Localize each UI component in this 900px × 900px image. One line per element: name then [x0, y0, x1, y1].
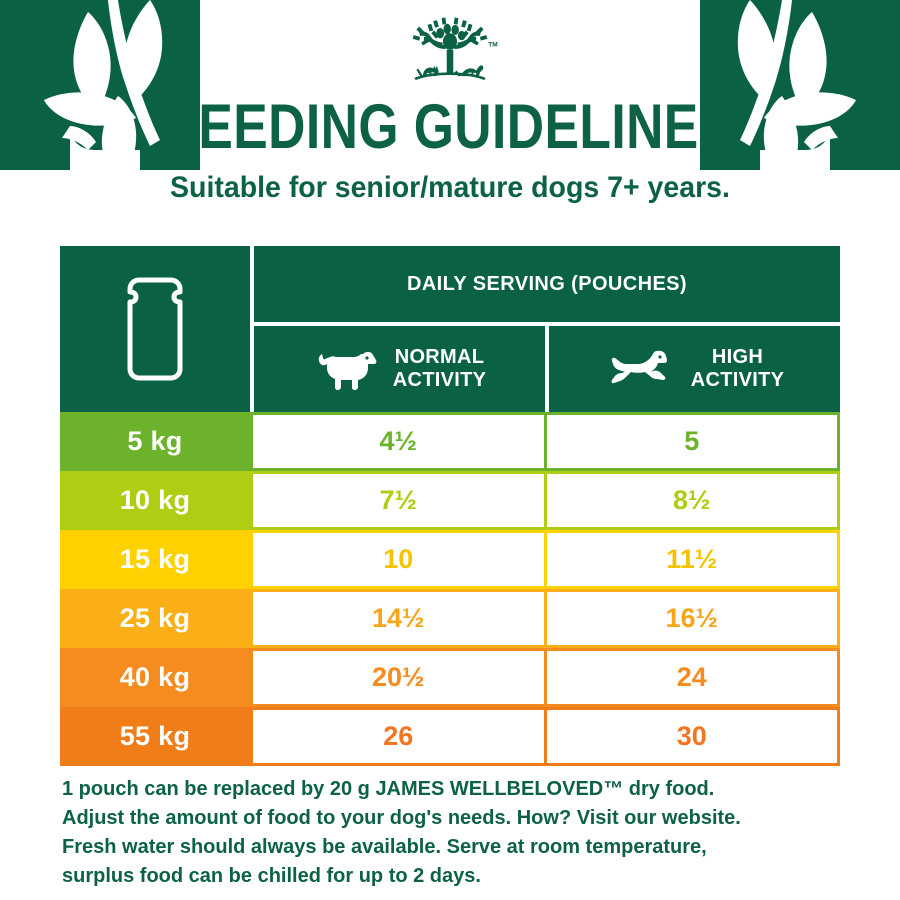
brand-logo: TM [0, 0, 900, 88]
normal-activity-value: 10 [250, 530, 547, 589]
weight-cell: 10 kg [60, 471, 250, 530]
table-row: 25 kg14½16½ [60, 589, 840, 648]
footer-notes: 1 pouch can be replaced by 20 g JAMES WE… [62, 775, 862, 891]
high-activity-value: 24 [547, 648, 841, 707]
table-header: DAILY SERVING (POUCHES) NORMAL ACTIVITY [60, 246, 840, 412]
weight-cell: 40 kg [60, 648, 250, 707]
footer-line-1: 1 pouch can be replaced by 20 g JAMES WE… [62, 775, 862, 804]
pouch-icon-cell [60, 246, 254, 412]
jumping-dog-icon [605, 346, 677, 392]
high-activity-value: 5 [547, 412, 841, 471]
weight-cell: 55 kg [60, 707, 250, 766]
high-activity-line2: ACTIVITY [691, 369, 785, 391]
table-body: 5 kg4½510 kg7½8½15 kg1011½25 kg14½16½40 … [60, 412, 840, 766]
normal-activity-header: NORMAL ACTIVITY [254, 326, 549, 412]
svg-text:TM: TM [488, 41, 497, 48]
table-row: 15 kg1011½ [60, 530, 840, 589]
tree-paw-cat-dog-logo-icon: TM [394, 12, 506, 88]
table-row: 40 kg20½24 [60, 648, 840, 707]
weight-cell: 25 kg [60, 589, 250, 648]
footer-line-2: Adjust the amount of food to your dog's … [62, 804, 862, 833]
table-row: 10 kg7½8½ [60, 471, 840, 530]
high-activity-line1: HIGH [712, 346, 763, 368]
normal-activity-line2: ACTIVITY [393, 369, 487, 391]
page-header: TM FEEDING GUIDELINES Suitable for senio… [0, 0, 900, 203]
footer-line-3: Fresh water should always be available. … [62, 833, 862, 862]
high-activity-value: 8½ [547, 471, 841, 530]
weight-cell: 15 kg [60, 530, 250, 589]
weight-cell: 5 kg [60, 412, 250, 471]
table-row: 55 kg2630 [60, 707, 840, 766]
normal-activity-value: 26 [250, 707, 547, 766]
feeding-guidelines-table: DAILY SERVING (POUCHES) NORMAL ACTIVITY [60, 246, 840, 766]
normal-activity-value: 14½ [250, 589, 547, 648]
high-activity-value: 16½ [547, 589, 841, 648]
footer-line-4: surplus food can be chilled for up to 2 … [62, 862, 862, 891]
high-activity-value: 11½ [547, 530, 841, 589]
high-activity-value: 30 [547, 707, 841, 766]
normal-activity-value: 20½ [250, 648, 547, 707]
page-subtitle: Suitable for senior/mature dogs 7+ years… [23, 173, 878, 203]
daily-serving-header: DAILY SERVING (POUCHES) [254, 246, 840, 326]
normal-activity-value: 7½ [250, 471, 547, 530]
high-activity-header: HIGH ACTIVITY [549, 326, 840, 412]
normal-activity-value: 4½ [250, 412, 547, 471]
page-title: FEEDING GUIDELINES [81, 96, 819, 159]
standing-dog-icon [313, 346, 379, 392]
pouch-icon [118, 275, 192, 383]
table-row: 5 kg4½5 [60, 412, 840, 471]
normal-activity-line1: NORMAL [395, 346, 485, 368]
